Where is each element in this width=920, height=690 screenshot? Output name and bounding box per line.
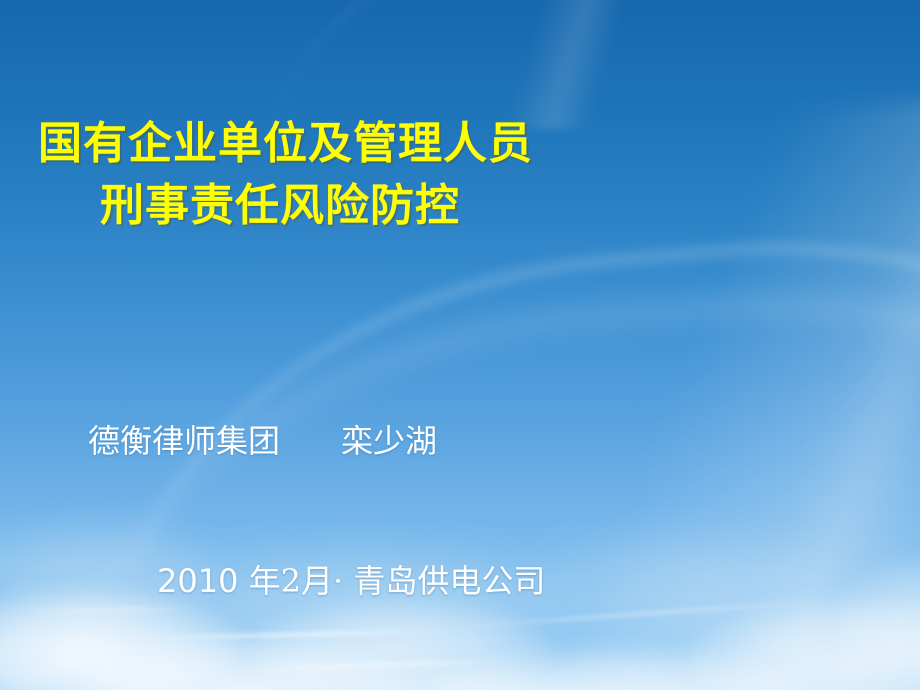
cloud-decoration: [330, 668, 590, 690]
date-venue-line: 2010 年2月· 青岛供电公司: [0, 512, 920, 650]
date-year: 2010: [157, 562, 249, 600]
slide-subtitle: 德衡律师集团 栾少湖 2010 年2月· 青岛供电公司: [0, 418, 920, 650]
cloud-wisp-decoration: [230, 658, 530, 672]
cloud-decoration: [430, 648, 810, 690]
presenter-line: 德衡律师集团 栾少湖: [0, 418, 920, 464]
title-slide: 国有企业单位及管理人员 刑事责任风险防控 德衡律师集团 栾少湖 2010 年2月…: [0, 0, 920, 690]
slide-title-line-2: 刑事责任风险防控: [0, 178, 920, 234]
slide-title-line-1: 国有企业单位及管理人员: [0, 116, 920, 172]
date-venue-text: 年2月· 青岛供电公司: [249, 562, 546, 600]
slide-title: 国有企业单位及管理人员 刑事责任风险防控: [0, 116, 920, 234]
